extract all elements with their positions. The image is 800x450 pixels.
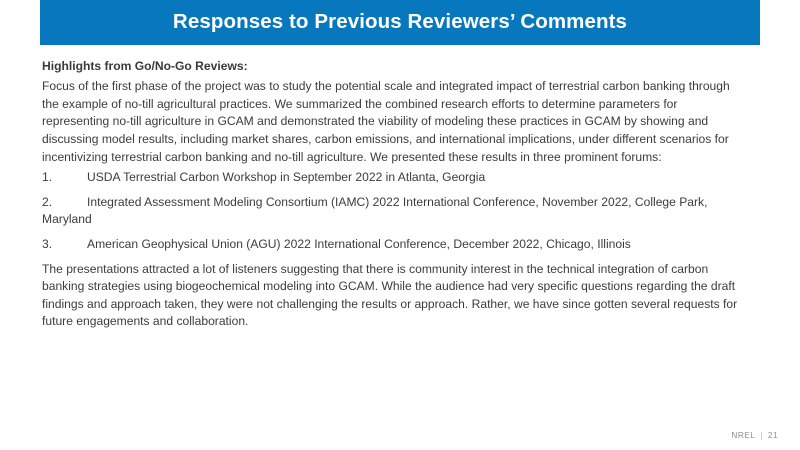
list-item-label: Integrated Assessment Modeling Consortiu… bbox=[42, 194, 742, 229]
list-item: 2. Integrated Assessment Modeling Consor… bbox=[42, 194, 742, 229]
forums-list: 1. USDA Terrestrial Carbon Workshop in S… bbox=[42, 169, 742, 253]
footer-separator: | bbox=[760, 431, 763, 440]
list-item-label: American Geophysical Union (AGU) 2022 In… bbox=[42, 236, 742, 254]
slide-footer: NREL | 21 bbox=[731, 431, 778, 440]
closing-paragraph: The presentations attracted a lot of lis… bbox=[42, 261, 742, 331]
footer-organization: NREL bbox=[731, 431, 755, 440]
list-item: 3. American Geophysical Union (AGU) 2022… bbox=[42, 236, 742, 254]
list-item: 1. USDA Terrestrial Carbon Workshop in S… bbox=[42, 169, 742, 187]
intro-paragraph: Focus of the first phase of the project … bbox=[42, 78, 742, 166]
list-item-number: 2. bbox=[42, 194, 84, 212]
list-item-number: 3. bbox=[42, 236, 84, 254]
slide: Responses to Previous Reviewers’ Comment… bbox=[0, 0, 800, 450]
page-title: Responses to Previous Reviewers’ Comment… bbox=[173, 12, 627, 33]
page-number: 21 bbox=[768, 431, 778, 440]
section-heading: Highlights from Go/No-Go Reviews: bbox=[42, 58, 742, 75]
list-item-label: USDA Terrestrial Carbon Workshop in Sept… bbox=[42, 169, 742, 187]
slide-body: Highlights from Go/No-Go Reviews: Focus … bbox=[42, 58, 742, 339]
slide-title-banner: Responses to Previous Reviewers’ Comment… bbox=[40, 0, 760, 45]
list-item-number: 1. bbox=[42, 169, 84, 187]
